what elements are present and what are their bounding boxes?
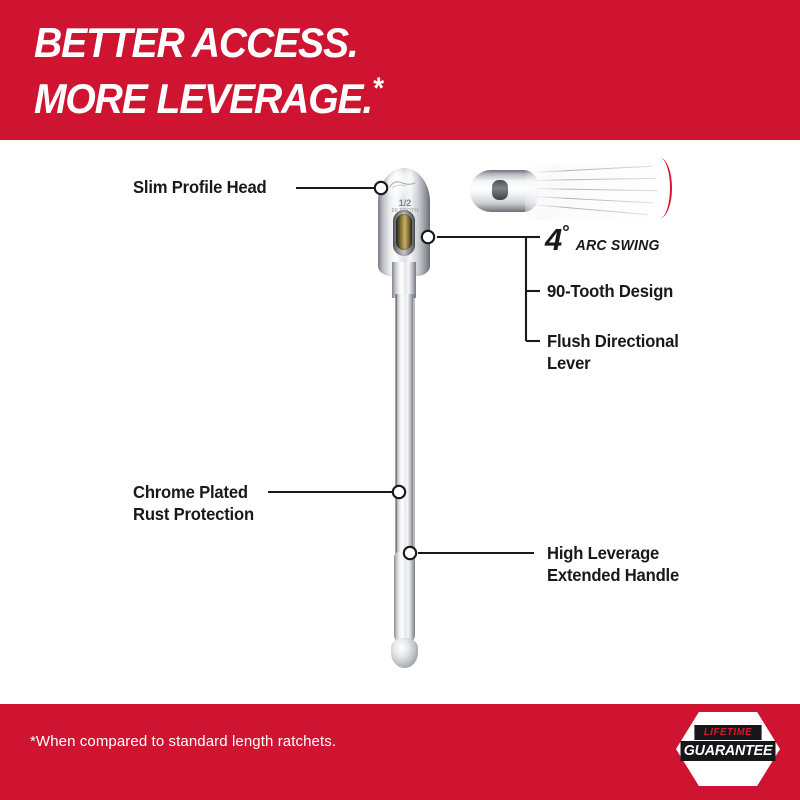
- ratchet-shaft: [396, 294, 413, 572]
- badge-lifetime-text: LIFETIME: [694, 725, 761, 740]
- infographic-page: BETTER ACCESS. MORE LEVERAGE.* 1/2 90 TO…: [0, 0, 800, 800]
- arc-swing-value: 4°: [545, 222, 568, 257]
- headline-line-2-wrap: MORE LEVERAGE.*: [34, 66, 382, 122]
- callout-slim-profile-head: Slim Profile Head: [133, 176, 267, 198]
- ratchet-grip: [394, 552, 415, 644]
- arc-swing-red-arc: [648, 158, 672, 218]
- callout-chrome-plated-rust-protection: Chrome Plated Rust Protection: [133, 481, 254, 525]
- ratchet-end-knob: [391, 638, 418, 668]
- headline: BETTER ACCESS. MORE LEVERAGE.*: [34, 20, 382, 122]
- footnote-text: *When compared to standard length ratche…: [30, 733, 336, 750]
- directional-lever: [396, 214, 412, 250]
- degree-symbol: °: [561, 223, 568, 244]
- headline-line-2: MORE LEVERAGE.: [34, 75, 372, 122]
- callout-90-tooth-design: 90-Tooth Design: [547, 280, 673, 302]
- arc-swing-label: ARC SWING: [576, 237, 660, 254]
- ratchet-shaft-edge-left: [395, 294, 397, 574]
- callout-flush-directional-lever: Flush Directional Lever: [547, 330, 679, 374]
- callout-high-leverage-extended-handle: High Leverage Extended Handle: [547, 542, 679, 586]
- drive-size-marking: 1/2: [394, 198, 416, 208]
- milwaukee-logo-mark: [389, 180, 419, 189]
- callout-arc-swing: 4°ARC SWING: [545, 222, 662, 258]
- ratchet-neck: [392, 262, 416, 298]
- arc-swing-socket-hole: [492, 180, 508, 200]
- arc-swing-motion-illustration: [470, 150, 680, 222]
- headline-asterisk: *: [372, 72, 382, 105]
- ratchet-shaft-edge-right: [413, 294, 415, 574]
- headline-line-1: BETTER ACCESS.: [34, 20, 382, 66]
- lifetime-guarantee-badge: LIFETIME GUARANTEE: [676, 712, 780, 786]
- badge-guarantee-text: GUARANTEE: [681, 741, 776, 761]
- arc-swing-number: 4: [545, 222, 561, 257]
